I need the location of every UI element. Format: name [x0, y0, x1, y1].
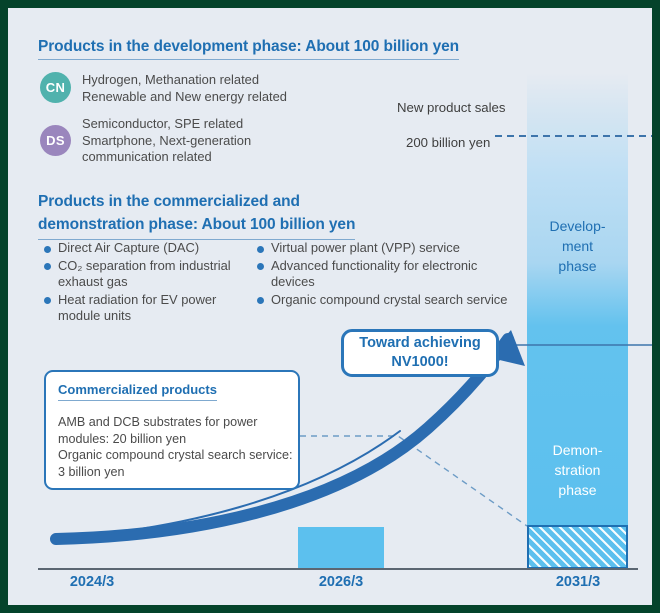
cn-line-2: Renewable and New energy related [82, 89, 382, 106]
commercialized-heading-line-1: Products in the commercialized and [38, 190, 355, 213]
commercialized-box-title: Commercialized products [58, 382, 217, 401]
ds-line-3: communication related [82, 149, 382, 166]
commercialized-products-box: Commercialized products AMB and DCB subs… [44, 370, 300, 490]
callout-nv1000: Toward achieving NV1000! [341, 329, 499, 377]
ds-line-2: Smartphone, Next-generation [82, 133, 382, 150]
label-development-phase: Develop-mentphase [527, 216, 628, 276]
commercialized-box-body: AMB and DCB substrates for power modules… [58, 414, 296, 480]
commercialized-heading: Products in the commercialized and demon… [38, 190, 355, 240]
chart-title: New product sales [397, 100, 505, 115]
development-item-cn-text: Hydrogen, Methanation related Renewable … [82, 72, 382, 105]
bullet-list-right: Virtual power plant (VPP) service Advanc… [257, 240, 512, 309]
list-item: Virtual power plant (VPP) service [257, 240, 512, 257]
list-item: Advanced functionality for electronic de… [257, 258, 512, 291]
infographic-frame: Develop-mentphase Demon-strationphase 20… [8, 8, 652, 605]
label-demonstration-phase: Demon-strationphase [527, 440, 628, 500]
list-item: CO₂ separation from industrial exhaust g… [44, 258, 259, 291]
bullet-list-left: Direct Air Capture (DAC) CO₂ separation … [44, 240, 259, 326]
x-tick-2031: 2031/3 [518, 574, 638, 590]
x-tick-2026: 2026/3 [281, 574, 401, 590]
x-axis-line [38, 568, 638, 570]
development-item-ds-text: Semiconductor, SPE related Smartphone, N… [82, 116, 382, 166]
list-item: Organic compound crystal search service [257, 292, 512, 309]
list-item: Direct Air Capture (DAC) [44, 240, 259, 257]
development-heading-text: Products in the development phase: About… [38, 38, 459, 60]
reference-label-200: 200 billion yen [406, 135, 490, 150]
development-heading: Products in the development phase: About… [38, 38, 459, 60]
badge-cn: CN [40, 72, 71, 103]
cn-line-1: Hydrogen, Methanation related [82, 72, 382, 89]
commercialized-heading-line-2: demonstration phase: About 100 billion y… [38, 213, 355, 240]
callout-line-1: Toward achieving [359, 334, 480, 353]
callout-line-2: NV1000! [391, 353, 448, 372]
x-tick-2024: 2024/3 [32, 574, 152, 590]
badge-ds: DS [40, 125, 71, 156]
ds-line-1: Semiconductor, SPE related [82, 116, 382, 133]
list-item: Heat radiation for EV power module units [44, 292, 259, 325]
